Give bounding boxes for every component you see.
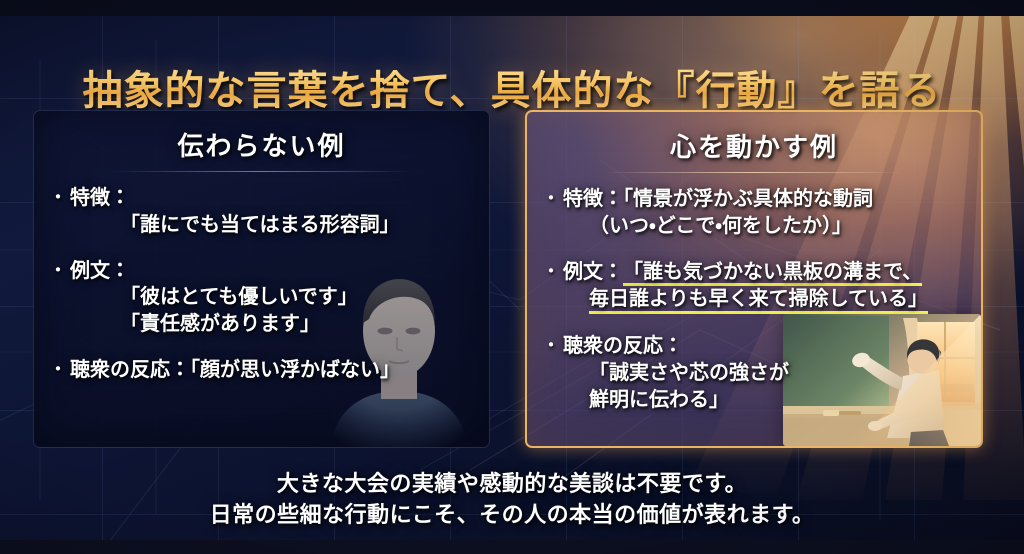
list-item-label: 聴衆の反応：	[563, 335, 683, 357]
list-item-label: 特徴：	[70, 187, 130, 209]
highlighted-text: 「誰も気づかない黒板の溝まで、	[623, 259, 922, 287]
list-item: ・ 特徴：「情景が浮かぶ具体的な動詞 （いつ・どこで・何をしたか）」	[541, 186, 967, 240]
list-item-label: 聴衆の反応：	[70, 359, 190, 381]
left-panel-heading: 伝わらない例	[48, 123, 475, 171]
list-item-body: 例文： 「彼はとても優しいです」 「責任感があります」	[70, 258, 358, 338]
bullet-dot: ・	[541, 186, 561, 213]
footer-line-1: 大きな大会の実績や感動的な美談は不要です。	[0, 468, 1024, 499]
footer-line-2: 日常の些細な行動にこそ、その人の本当の価値が表れます。	[0, 499, 1024, 530]
list-item-highlighted: ・ 例文：「誰も気づかない黒板の溝まで、 毎日誰よりも早く来て掃除している」	[541, 259, 967, 315]
right-panel-divider	[604, 172, 904, 173]
list-item: ・ 特徴： 「誰にでも当てはまる形容詞」	[48, 185, 475, 239]
top-letterbox-bar	[0, 0, 1024, 16]
slide-title: 抽象的な言葉を捨て、具体的な『行動』を語る	[0, 58, 1024, 116]
bullet-dot: ・	[48, 258, 68, 285]
list-item-body: 特徴：「情景が浮かぶ具体的な動詞 （いつ・どこで・何をしたか）」	[563, 186, 873, 240]
right-panel-bullet-list: ・ 特徴：「情景が浮かぶ具体的な動詞 （いつ・どこで・何をしたか）」 ・ 例文：…	[541, 186, 967, 414]
bullet-dot: ・	[48, 357, 68, 384]
left-panel-bullet-list: ・ 特徴： 「誰にでも当てはまる形容詞」 ・ 例文： 「彼はとても優しいです」 …	[48, 185, 475, 384]
list-item-line: 「彼はとても優しいです」	[70, 284, 358, 311]
list-item-body: 聴衆の反応： 「誠実さや芯の強さが 鮮明に伝わる」	[563, 333, 789, 413]
footer-summary: 大きな大会の実績や感動的な美談は不要です。 日常の些細な行動にこそ、その人の本当…	[0, 468, 1024, 530]
bullet-dot: ・	[48, 185, 68, 212]
list-item-line: 「情景が浮かぶ具体的な動詞	[623, 188, 873, 210]
list-item-label: 例文：	[563, 261, 623, 283]
list-item-line: 「誰にでも当てはまる形容詞」	[70, 212, 400, 239]
list-item: ・ 聴衆の反応： 「誠実さや芯の強さが 鮮明に伝わる」	[541, 333, 967, 413]
highlighted-text: 毎日誰よりも早く来て掃除している」	[589, 286, 928, 314]
left-panel-divider	[112, 171, 412, 172]
list-item-line: （いつ・どこで・何をしたか）」	[563, 213, 873, 240]
list-item-line: 鮮明に伝わる」	[563, 387, 789, 414]
slide-canvas: 抽象的な言葉を捨て、具体的な『行動』を語る 伝わらない例 ・ 特徴： 「誰にでも…	[0, 0, 1024, 554]
bottom-letterbox-bar	[0, 540, 1024, 554]
list-item-body: 例文：「誰も気づかない黒板の溝まで、 毎日誰よりも早く来て掃除している」	[563, 259, 928, 315]
right-panel-heading: 心を動かす例	[541, 124, 967, 172]
list-item: ・ 例文： 「彼はとても優しいです」 「責任感があります」	[48, 258, 475, 338]
list-item-label: 例文：	[70, 260, 130, 282]
list-item-body: 聴衆の反応：「顔が思い浮かばない」	[70, 357, 400, 384]
bullet-dot: ・	[541, 333, 561, 360]
list-item: ・ 聴衆の反応：「顔が思い浮かばない」	[48, 357, 475, 384]
list-item-body: 特徴： 「誰にでも当てはまる形容詞」	[70, 185, 400, 239]
panel-bad-example: 伝わらない例 ・ 特徴： 「誰にでも当てはまる形容詞」 ・ 例文： 「彼はとても…	[33, 110, 490, 448]
list-item-line: 「責任感があります」	[70, 311, 358, 338]
list-item-label: 特徴：	[563, 188, 623, 210]
list-item-line: 「顔が思い浮かばない」	[190, 359, 400, 381]
list-item-line: 「誠実さや芯の強さが	[563, 360, 789, 387]
bullet-dot: ・	[541, 259, 561, 286]
panel-good-example: 心を動かす例 ・ 特徴：「情景が浮かぶ具体的な動詞 （いつ・どこで・何をしたか）…	[525, 110, 983, 448]
